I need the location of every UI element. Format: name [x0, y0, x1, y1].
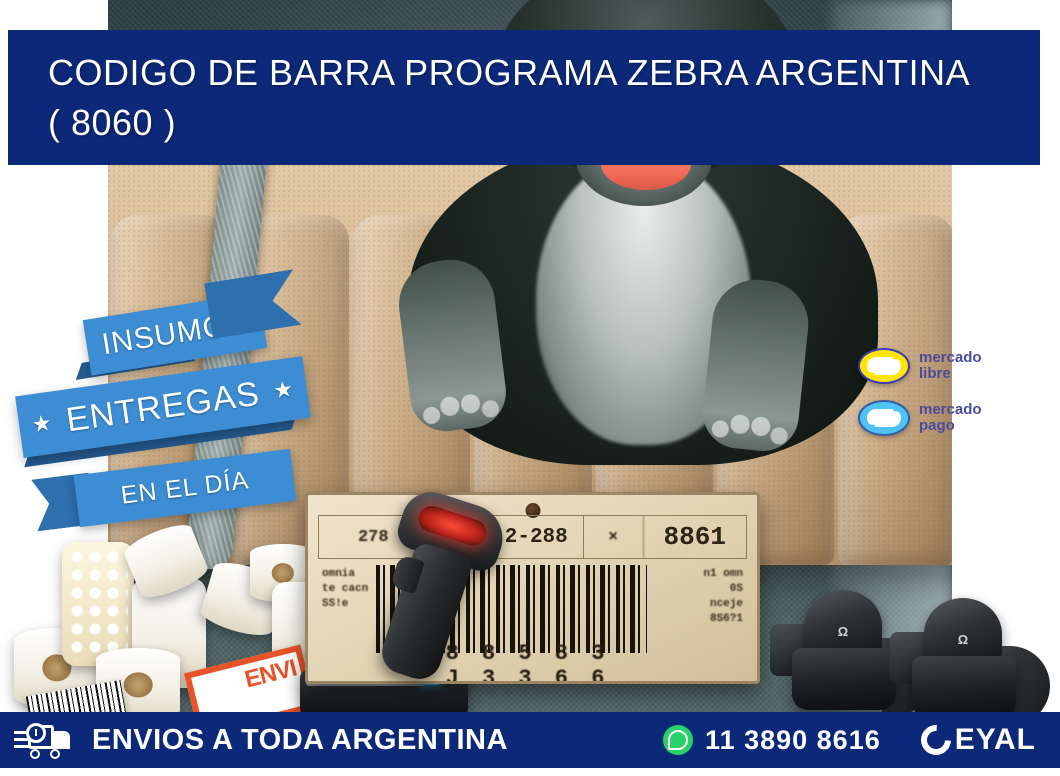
brand-logo: EYAL [921, 723, 1036, 757]
mercado-pago-text: mercado pago [919, 402, 982, 434]
ribbon-en-el-dia: EN EL DÍA [74, 449, 297, 527]
promo-poster: ENVI 278 ( 010 2-288 × 8861 omnia te cac… [0, 0, 1060, 776]
brand-c-icon [915, 719, 957, 761]
envio-sticker-text: ENVI [242, 655, 299, 695]
mercado-libre-badge: mercado libre [858, 348, 1038, 384]
ribbon-group: INSUMOS ★ ENTREGAS ★ EN EL DÍA [18, 280, 348, 540]
mercado-libre-line1: mercado [919, 349, 982, 366]
ribbon-en-el-dia-label: EN EL DÍA [119, 466, 251, 510]
scanner-laser-window [415, 503, 490, 549]
shipping-text: ENVIOS A TODA ARGENTINA [92, 724, 508, 757]
label-roll-dotted [62, 542, 134, 666]
title-banner: CODIGO DE BARRA PROGRAMA ZEBRA ARGENTINA… [8, 30, 1040, 165]
label-right-text: n1 omn 0S nceje 8S6?1 [691, 567, 743, 627]
handshake-icon [858, 348, 910, 384]
mercado-pago-line2: pago [919, 418, 982, 434]
whatsapp-icon[interactable] [663, 725, 693, 755]
mercado-pago-badge: mercado pago [858, 400, 1038, 436]
ribbon-insumos-fold [204, 269, 302, 338]
mercado-libre-line2: libre [919, 366, 982, 382]
label-cell-3: × [584, 516, 644, 558]
phone-contact[interactable]: 11 3890 8616 [663, 725, 881, 756]
label-top-row: 278 ( 010 2-288 × 8861 [318, 515, 747, 559]
label-left-text: omnia te cacn SS!e [322, 567, 374, 612]
price-label-gun: Ω [890, 598, 1040, 718]
handshake-icon [858, 400, 910, 436]
brand-name: EYAL [955, 723, 1036, 757]
star-icon: ★ [30, 412, 54, 437]
delivery-truck-icon [14, 723, 70, 757]
mercado-pago-line1: mercado [919, 401, 982, 418]
mercado-libre-text: mercado libre [919, 350, 982, 382]
label-cell-4: 8861 [644, 516, 746, 558]
label-rolls-group: ENVI [0, 520, 340, 730]
payment-badges: mercado libre mercado pago [858, 348, 1038, 452]
dog-paw-right [699, 275, 812, 454]
star-icon: ★ [272, 378, 296, 403]
page-title: CODIGO DE BARRA PROGRAMA ZEBRA ARGENTINA… [48, 48, 970, 148]
footer-bar: ENVIOS A TODA ARGENTINA 11 3890 8616 EYA… [0, 712, 1060, 768]
phone-number[interactable]: 11 3890 8616 [705, 725, 881, 756]
